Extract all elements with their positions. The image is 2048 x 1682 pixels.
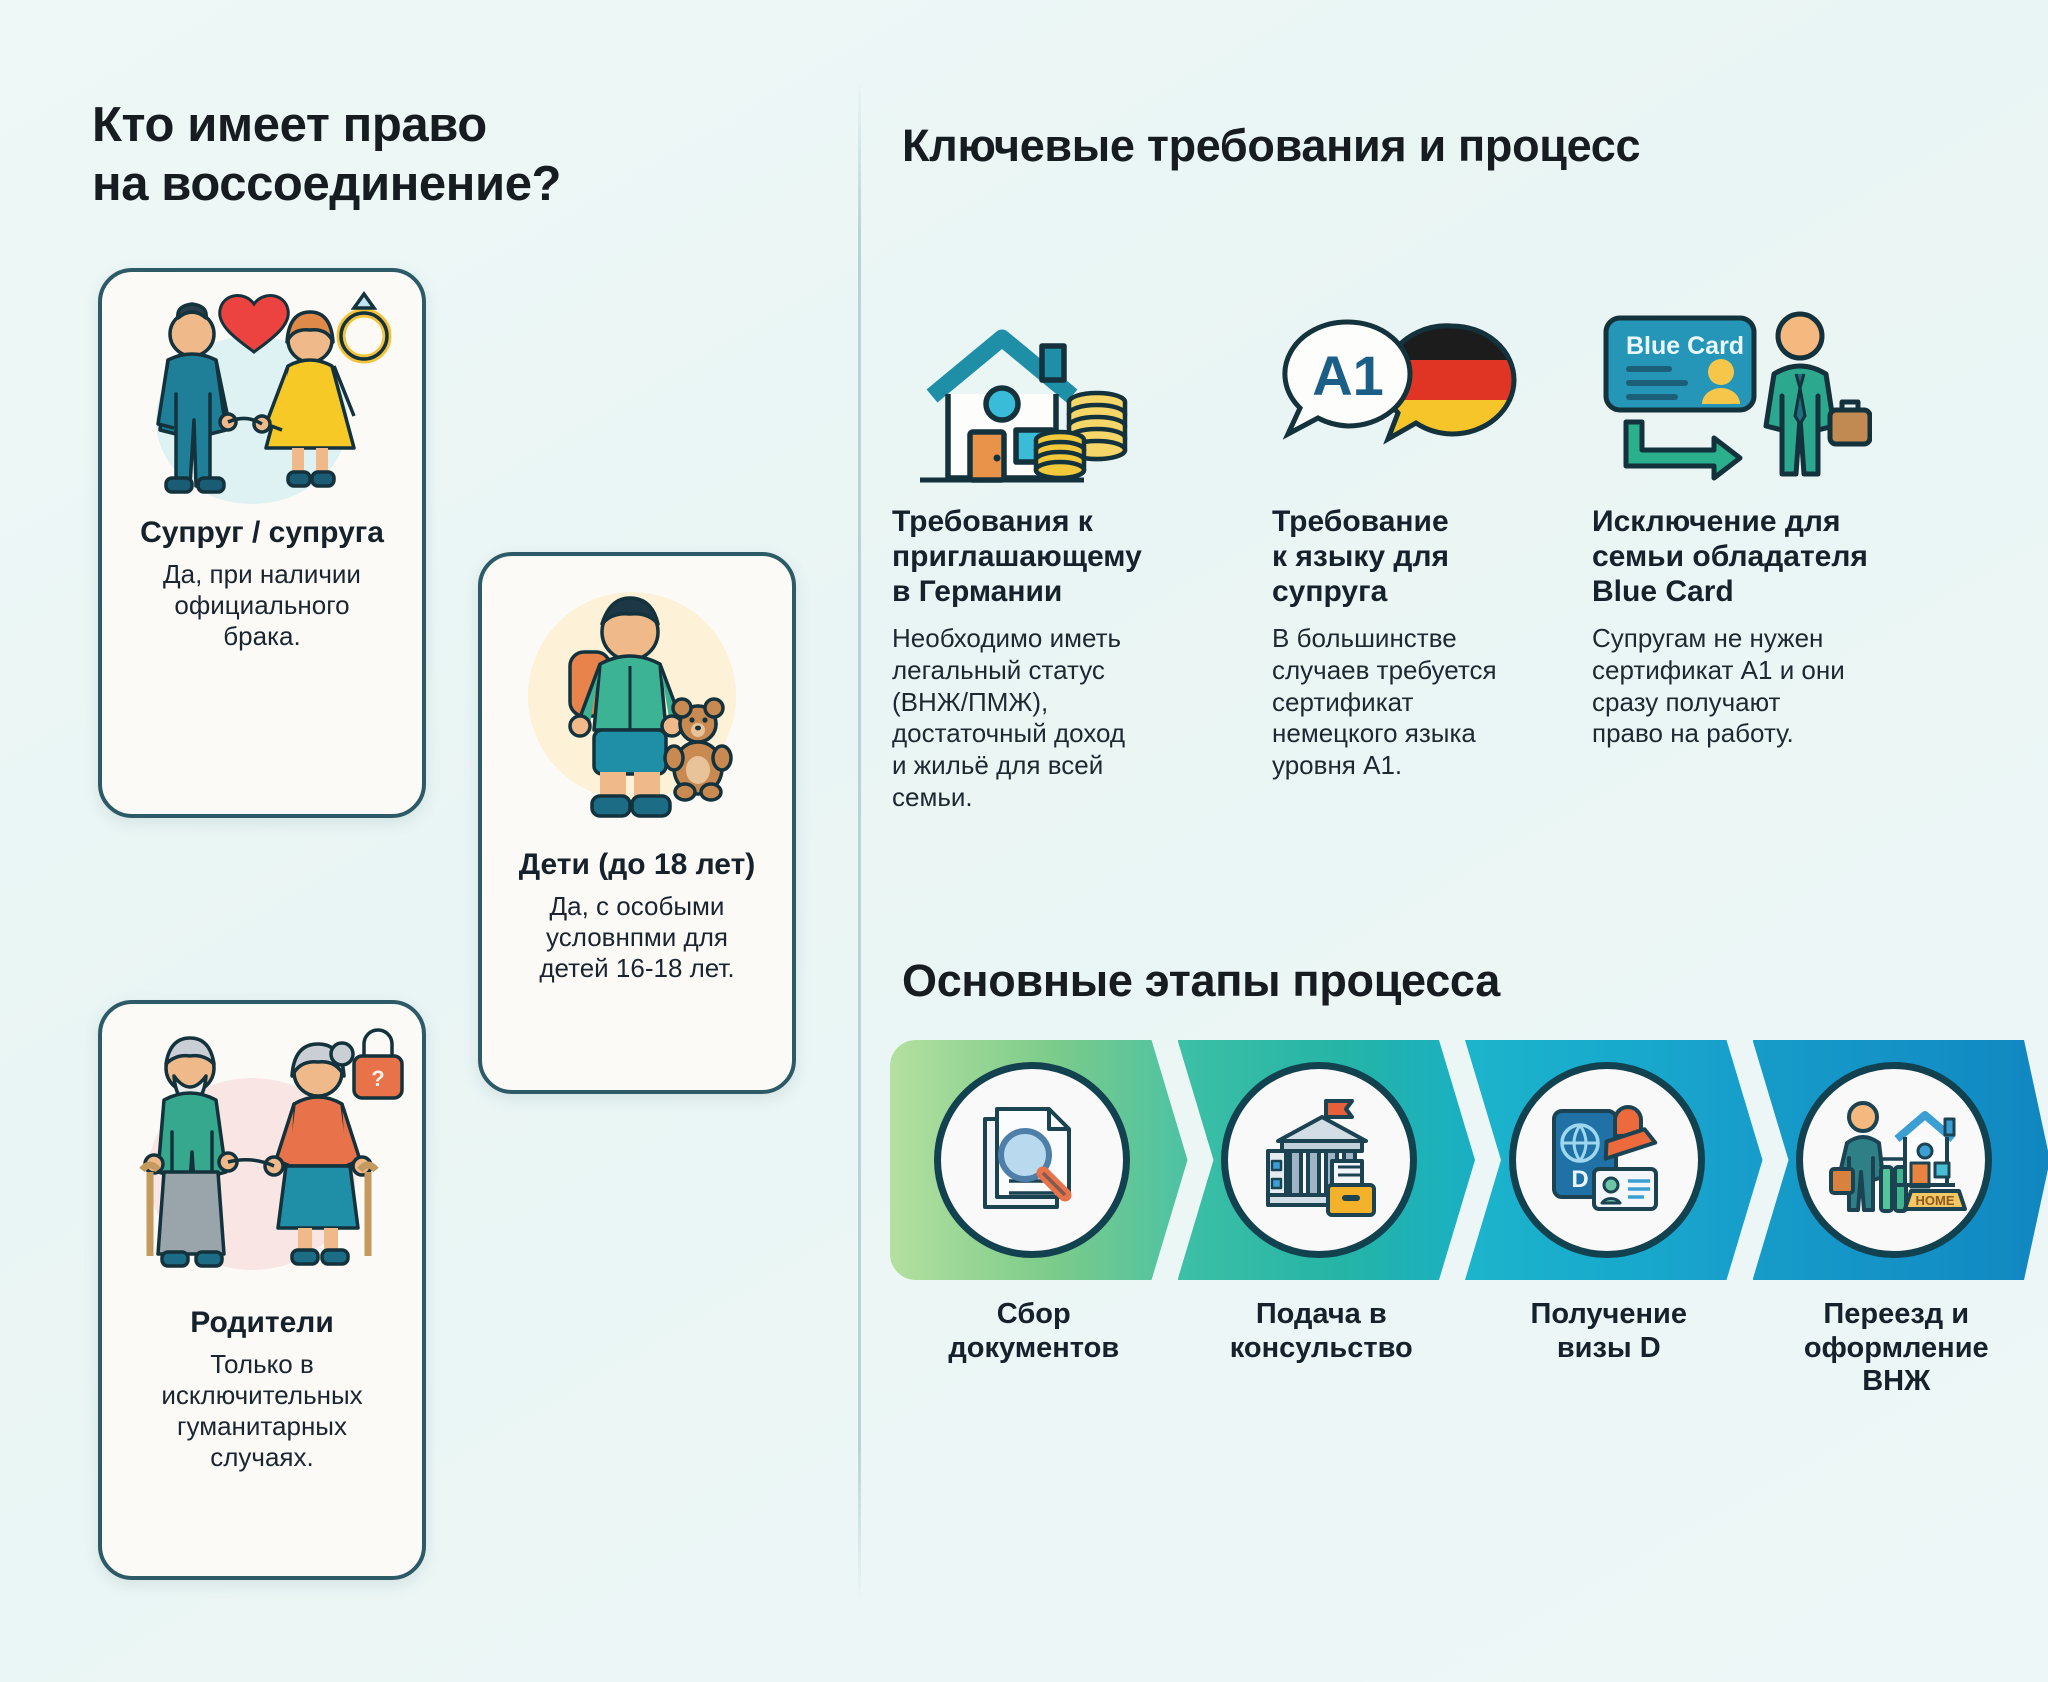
relocation-home-icon: HOME [1796, 1062, 1992, 1258]
card-parents-title: Родители [190, 1306, 334, 1341]
chevron-row: D [890, 1040, 2040, 1280]
requirement-sponsor: Требования к приглашающему в Германии Не… [892, 300, 1252, 814]
requirement-sponsor-heading: Требования к приглашающему в Германии [892, 504, 1252, 609]
requirements-section-title: Ключевые требования и процесс [902, 120, 1640, 172]
requirement-language-body: В большинстве случаев требуется сертифик… [1272, 623, 1572, 782]
column-divider [858, 78, 861, 1602]
a1-level-label: A1 [1312, 344, 1384, 407]
requirements-grid: Требования к приглашающему в Германии Не… [892, 300, 2032, 814]
child-backpack-teddy-icon [482, 556, 792, 846]
passport-stamp-icon: D [1509, 1062, 1705, 1258]
card-children[interactable]: Дети (до 18 лет) Да, с особыми условнпми… [478, 552, 796, 1094]
card-children-desc: Да, с особыми условнпми для детей 16-18 … [521, 891, 752, 985]
card-parents-desc: Только в исключительных гуманитарных слу… [143, 1349, 380, 1474]
page-title: Кто имеет право на воссоединение? [92, 96, 561, 214]
card-parents[interactable]: ? [98, 1000, 426, 1580]
requirement-sponsor-body: Необходимо иметь легальный статус (ВНЖ/П… [892, 623, 1252, 813]
requirement-bluecard-body: Супругам не нужен сертификат A1 и они ср… [1592, 623, 1942, 750]
card-children-title: Дети (до 18 лет) [519, 848, 756, 883]
step-label-visa: Получение визы D [1465, 1298, 1753, 1399]
card-spouse[interactable]: Супруг / супруга Да, при наличии официал… [98, 268, 426, 818]
step-label-collect: Сбор документов [890, 1298, 1178, 1399]
step-labels: Сбор документов Подача в консульство Пол… [890, 1298, 2040, 1399]
couple-heart-ring-icon [102, 272, 422, 514]
step-label-relocate: Переезд и оформление ВНЖ [1753, 1298, 2041, 1399]
svg-text:D: D [1571, 1166, 1588, 1193]
step-chevron-submit[interactable] [1178, 1040, 1476, 1280]
step-chevron-collect[interactable] [890, 1040, 1188, 1280]
card-spouse-title: Супруг / супруга [140, 516, 384, 551]
blue-card-worker-icon: Blue Card [1592, 300, 1942, 500]
consulate-building-icon [1221, 1062, 1417, 1258]
requirement-bluecard-heading: Исключение для семьи обладателя Blue Car… [1592, 504, 1942, 609]
step-chevron-visa[interactable]: D [1465, 1040, 1763, 1280]
elderly-parents-lock-icon: ? [102, 1004, 422, 1304]
house-coins-icon [892, 300, 1252, 500]
requirement-bluecard: Blue Card [1592, 300, 1942, 814]
right-column: Ключевые требования и процесс [880, 0, 2048, 1682]
infographic-root: Кто имеет право на воссоединение? [0, 0, 2048, 1682]
blue-card-label: Blue Card [1626, 332, 1744, 360]
step-chevron-relocate[interactable]: HOME [1753, 1040, 2048, 1280]
steps-section-title: Основные этапы процесса [902, 955, 1500, 1007]
process-steps: D [890, 1040, 2040, 1399]
requirement-language: A1 Требование к языку для супруга В боль… [1272, 300, 1572, 814]
step-label-submit: Подача в консульство [1178, 1298, 1466, 1399]
documents-magnifier-icon [934, 1062, 1130, 1258]
left-column: Кто имеет право на воссоединение? [0, 0, 860, 1682]
svg-text:?: ? [371, 1066, 384, 1091]
card-spouse-desc: Да, при наличии официального брака. [145, 559, 379, 653]
doormat-label: HOME [1916, 1193, 1955, 1208]
requirement-language-heading: Требование к языку для супруга [1272, 504, 1572, 609]
a1-speech-bubble-german-flag-icon: A1 [1272, 300, 1572, 500]
